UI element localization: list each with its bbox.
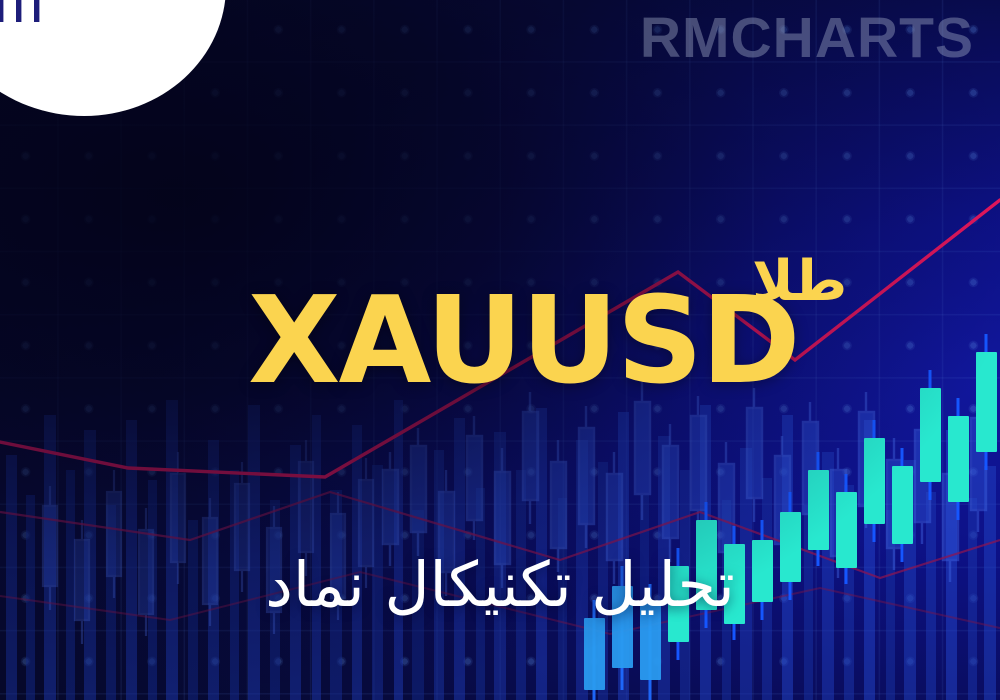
- rm-monogram-icon: [0, 0, 140, 30]
- page-title-persian-label: طلا: [752, 254, 847, 310]
- subtitle: تحلیل تکنیکال نماد: [0, 546, 1000, 624]
- rmcharts-watermark: RMCHARTS: [640, 6, 974, 72]
- banner-root: Charts RMCHARTS XAUUSD طلا تحلیل تکنیکال…: [0, 0, 1000, 700]
- page-title: XAUUSD: [248, 282, 799, 402]
